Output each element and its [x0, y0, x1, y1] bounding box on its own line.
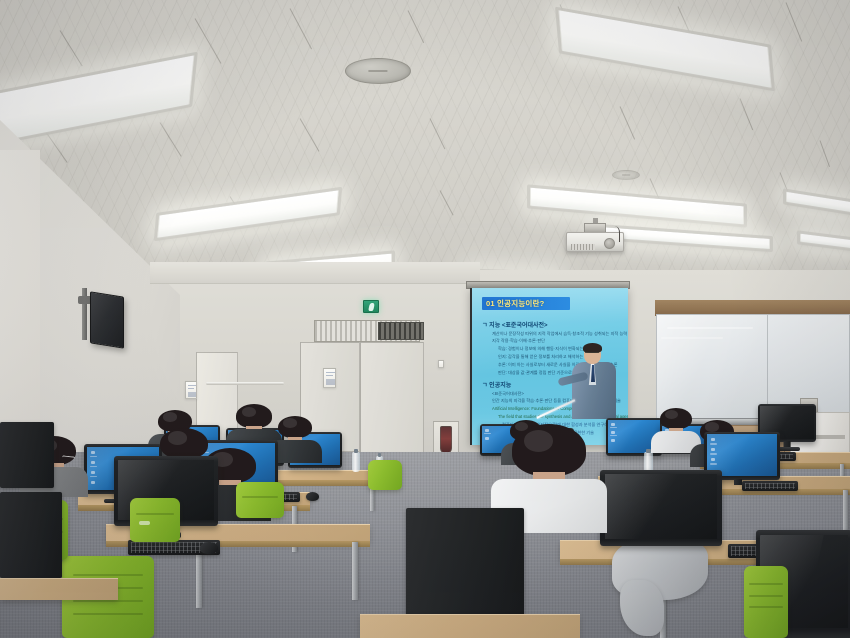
whiteboard-light-reflection: [667, 327, 753, 329]
desk: [0, 578, 118, 600]
wall-notice-left: [185, 381, 197, 399]
desk: [360, 614, 580, 638]
slide-heading-2: ㄱ 인공지능: [482, 380, 511, 389]
chair[interactable]: [236, 482, 284, 518]
student: [512, 424, 586, 516]
student: [660, 408, 692, 446]
slide-title-text: 01 인공지능이란?: [482, 298, 544, 309]
slide-heading-1: ㄱ 지능 <표준국어대사전>: [482, 320, 548, 329]
instructor: [560, 341, 624, 419]
projection-screen: 01 인공지능이란? ㄱ 지능 <표준국어대사전> 계산이나 문장작성 따위의 …: [470, 288, 628, 445]
desk-leg: [843, 490, 848, 530]
monitor-rear: [0, 492, 62, 578]
slide-bullet: 계산이나 문장작성 따위의 지적 작업에서 습득·창조적 기능 성취되는 지적 …: [492, 331, 627, 337]
ceiling-projector: [566, 232, 624, 254]
extinguisher-glyph: [440, 426, 452, 455]
display-panel: [90, 291, 124, 348]
running-man-glyph: [368, 303, 375, 311]
chair[interactable]: [368, 460, 402, 490]
slide-bullet: 지각 작용·학습·이해·추론·판단: [492, 338, 545, 344]
wall-rail: [206, 382, 284, 385]
wall-soffit: [150, 262, 480, 284]
whiteboard-light-reflection: [661, 337, 723, 339]
whiteboard: [656, 314, 850, 420]
projector-cable: [606, 226, 620, 242]
chair[interactable]: [130, 498, 180, 542]
keyboard[interactable]: [742, 481, 798, 491]
mouse[interactable]: [306, 492, 319, 501]
slide-title-bar: 01 인공지능이란?: [482, 297, 570, 310]
ceiling-vent-icon: [612, 170, 640, 180]
water-bottle[interactable]: [352, 452, 360, 472]
door-right[interactable]: [360, 342, 424, 454]
monitor-rear: [0, 422, 54, 488]
monitor: [600, 470, 722, 546]
ceiling-speaker-icon: [345, 58, 411, 84]
exit-sign-icon: [363, 300, 379, 313]
desk-leg: [352, 542, 358, 600]
instructor-glasses-icon: [585, 352, 599, 355]
monitor-neck: [734, 479, 742, 485]
wall-notice-center: [323, 368, 336, 388]
wall-notice-small: [438, 360, 444, 368]
slide-bullet: <표준국어대사전>: [492, 391, 524, 397]
wall-mounted-display: [74, 282, 130, 356]
mouse[interactable]: [200, 542, 218, 554]
student: [278, 416, 312, 456]
classroom-photo: 01 인공지능이란? ㄱ 지능 <표준국어대사전> 계산이나 문장작성 따위의 …: [0, 0, 850, 638]
chair[interactable]: [744, 566, 788, 638]
projector-vent: [571, 244, 595, 250]
ventilation-louver-dark: [378, 322, 424, 340]
